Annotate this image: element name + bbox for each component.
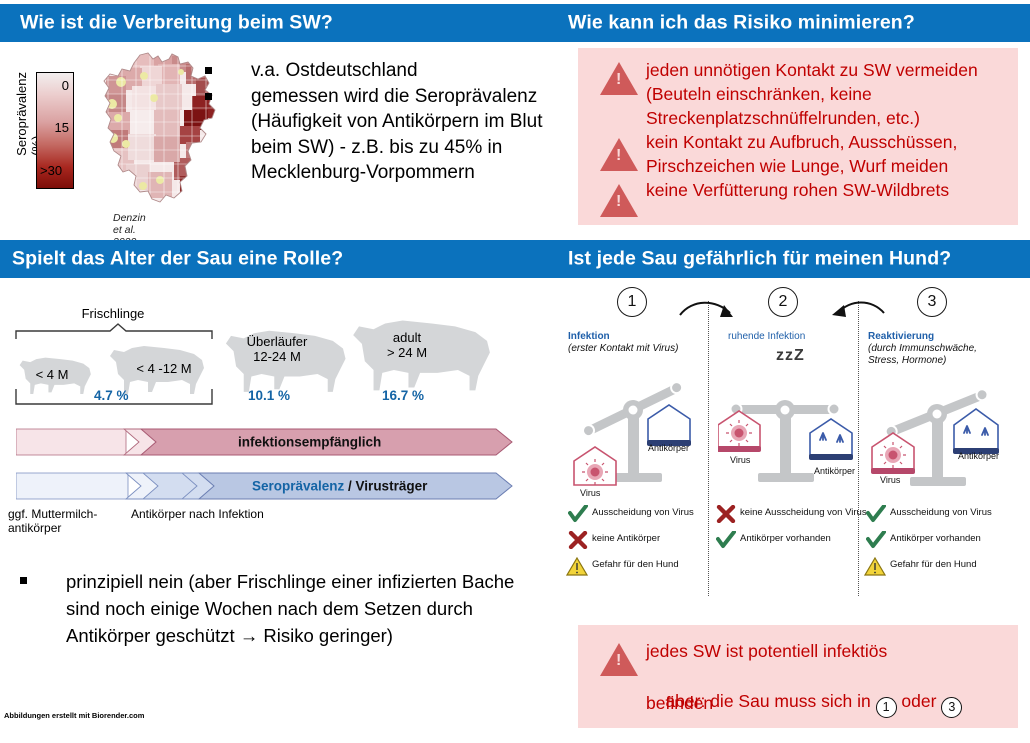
pan-label-antibody-3: Antikörper <box>958 451 999 461</box>
age-answer-bullet-1: prinzipiell nein (aber Frischlinge einer… <box>66 568 520 649</box>
stage-3-legend-2: Antikörper vorhanden <box>890 533 981 544</box>
sleep-zzz-icon: zzZ <box>776 347 805 365</box>
frischlinge-bracket-label: Frischlinge <box>68 306 158 321</box>
conclusion-line-3: befinden <box>646 691 713 716</box>
bullet-square-icon <box>20 577 27 584</box>
stage-title-3: Reaktivierung <box>868 331 934 343</box>
seroprevalence-color-legend: 0 15 >30 <box>36 72 74 189</box>
conclusion-line-1: jedes SW ist potentiell infektiös <box>646 639 887 664</box>
spread-bullet-list: v.a. Ostdeutschland gemessen wird die Se… <box>205 58 550 186</box>
panel-title-danger: Ist jede Sau gefährlich für meinen Hund? <box>568 248 951 271</box>
spread-bullet-1: v.a. Ostdeutschland <box>251 58 550 84</box>
percent-adult: 16.7 % <box>382 388 424 403</box>
legend-tick-0: 0 <box>62 78 69 93</box>
caption-muttermilchantikoerper: ggf. Muttermilch- antikörper <box>8 507 97 535</box>
risk-minimization-box: ! ! ! jeden unnötigen Kontakt zu SW verm… <box>578 48 1018 225</box>
list-item: gemessen wird die Seroprävalenz (Häufigk… <box>205 84 550 186</box>
warning-triangle-icon: ! <box>600 62 638 95</box>
stage-3-legend-1: Ausscheidung von Virus <box>890 507 992 518</box>
warning-triangle-icon: ! <box>600 184 638 217</box>
legend-tick-15: 15 <box>55 120 69 135</box>
pan-label-virus-2: Virus <box>730 455 750 465</box>
risk-item-3: keine Verfütterung rohen SW-Wildbrets <box>646 178 949 202</box>
stage-1-legend-1: Ausscheidung von Virus <box>592 507 694 518</box>
balance-scale-stage-1 <box>566 365 702 487</box>
stage-1-legend-2: keine Antikörper <box>592 533 660 544</box>
caption-antikoerper-nach-infektion: Antikörper nach Infektion <box>131 507 264 521</box>
warning-triangle-icon: ! <box>600 643 638 676</box>
band-label-infektionsempfaenglich: infektionsempfänglich <box>238 435 381 450</box>
list-item: prinzipiell nein (aber Frischlinge einer… <box>10 568 520 649</box>
check-icon <box>716 531 736 549</box>
pan-label-antibody-1: Antikörper <box>648 443 689 453</box>
infection-stages-diagram: 1 Infektion (erster Kontakt mit Virus) <box>560 283 1030 613</box>
age-label-group-3: Überläufer 12-24 M <box>234 334 320 364</box>
stage-number-3: 3 <box>917 287 947 317</box>
stage-subtitle-1: (erster Kontakt mit Virus) <box>568 343 678 355</box>
header-bar-age: Spielt das Alter der Sau eine Rolle? Ist… <box>0 240 1030 278</box>
check-icon <box>866 505 886 523</box>
stage-subtitle-3: (durch Immunschwäche, Stress, Hormone) <box>868 343 977 366</box>
stage-1-legend-3: Gefahr für den Hund <box>592 559 679 570</box>
cross-icon <box>716 505 736 523</box>
stage-divider-2 <box>858 301 859 596</box>
spread-bullet-2: gemessen wird die Seroprävalenz (Häufigk… <box>251 84 550 186</box>
age-label-group-3-range: 12-24 M <box>253 349 301 364</box>
pan-label-virus-1: Virus <box>580 488 600 498</box>
header-bar-spread: Wie ist die Verbreitung beim SW? Wie kan… <box>0 4 1030 42</box>
warning-triangle-icon: ! <box>600 138 638 171</box>
pan-label-virus-3: Virus <box>880 475 900 485</box>
risk-item-2: kein Kontakt zu Aufbruch, Ausschüssen, P… <box>646 130 957 178</box>
pan-label-antibody-2: Antikörper <box>814 466 855 476</box>
stage-number-1: 1 <box>617 287 647 317</box>
check-icon <box>866 531 886 549</box>
list-item: v.a. Ostdeutschland <box>205 58 550 84</box>
stage-title-1: Infektion <box>568 331 610 343</box>
band-label-seropraevalenz: Seroprävalenz / Virusträger <box>252 479 427 494</box>
footer-credit: Abbildungen erstellt mit Biorender.com <box>4 711 144 720</box>
risk-item-1: jeden unnötigen Kontakt zu SW vermeiden … <box>646 58 978 130</box>
cross-icon <box>568 531 588 549</box>
balance-scale-stage-3 <box>866 369 1006 491</box>
legend-tick-30: >30 <box>40 163 69 178</box>
age-label-group-4-range: > 24 M <box>387 345 427 360</box>
band-label-seropraevalenz-rest: / Virusträger <box>344 479 427 494</box>
bullet-square-icon <box>205 67 212 74</box>
conclusion-line-2-b: oder <box>897 691 942 711</box>
caution-icon <box>566 557 588 576</box>
age-label-group-2: < 4 -12 M <box>124 361 204 376</box>
percent-frischlinge: 4.7 % <box>94 388 129 403</box>
panel-title-spread: Wie ist die Verbreitung beim SW? <box>20 12 333 35</box>
stage-title-2: ruhende Infektion <box>728 331 805 343</box>
arrow-stage-2-to-3 <box>828 295 890 327</box>
check-icon <box>568 505 588 523</box>
age-label-group-3-name: Überläufer <box>247 334 308 349</box>
band-label-seropraevalenz-accent: Seroprävalenz <box>252 479 344 494</box>
stage-3-legend-3: Gefahr für den Hund <box>890 559 977 570</box>
stage-2-legend-1: keine Ausscheidung von Virus <box>740 507 867 518</box>
stage-divider-1 <box>708 301 709 596</box>
age-label-group-1: < 4 M <box>22 367 82 382</box>
panel-title-risk: Wie kann ich das Risiko minimieren? <box>568 12 915 35</box>
age-label-group-4: adult > 24 M <box>364 330 450 360</box>
age-label-group-4-name: adult <box>393 330 421 345</box>
conclusion-box: ! jedes SW ist potentiell infektiös aber… <box>578 625 1018 728</box>
age-answer-bullet-list: prinzipiell nein (aber Frischlinge einer… <box>10 568 520 649</box>
arrow-stage-1-to-2 <box>678 295 740 327</box>
caution-icon <box>864 557 886 576</box>
panel-title-age: Spielt das Alter der Sau eine Rolle? <box>12 248 343 271</box>
bullet-square-icon <box>205 93 212 100</box>
conclusion-stage-ref-3: 3 <box>941 697 962 718</box>
stage-2-legend-2: Antikörper vorhanden <box>740 533 831 544</box>
stage-number-2: 2 <box>768 287 798 317</box>
conclusion-stage-ref-1: 1 <box>876 697 897 718</box>
percent-ueberlaeufer: 10.1 % <box>248 388 290 403</box>
age-susceptibility-diagram: Frischlinge < 4 M < 4 -12 M Überläufer 1… <box>0 288 560 518</box>
